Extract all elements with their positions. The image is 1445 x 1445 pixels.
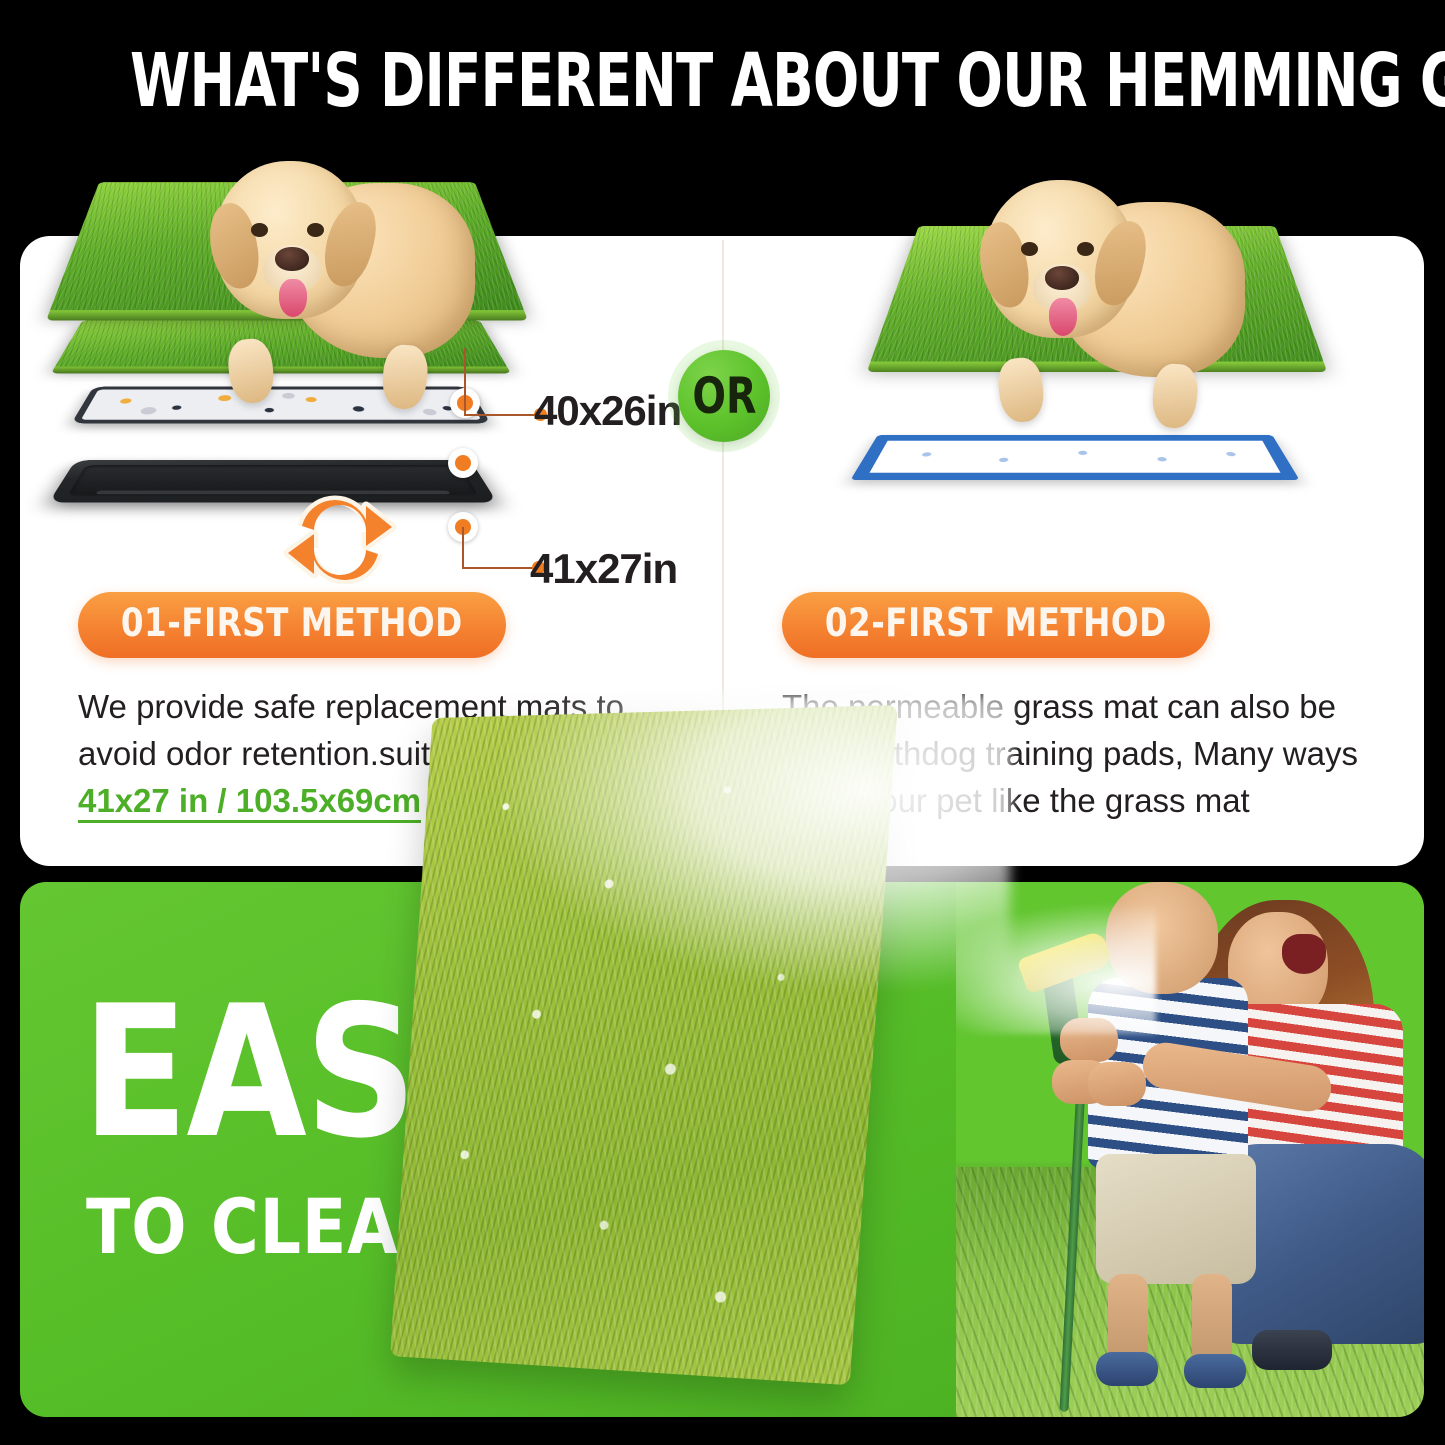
dog-ear-left [973, 218, 1036, 312]
method-01-description: We provide safe replacement mats to avoi… [78, 684, 653, 825]
dog-ear-left [203, 199, 266, 293]
dog-paw-left [226, 337, 276, 405]
easy-headline: EASY [82, 992, 526, 1152]
method-01-size-highlight: 41x27 in / 103.5x69cm [78, 782, 421, 823]
recycle-arrows-icon [280, 480, 400, 600]
golden-retriever-dog-left [205, 143, 475, 433]
dog-eye-left [251, 223, 268, 237]
method-01-badge: 01-FIRST METHOD [78, 592, 506, 658]
boy-shorts [1096, 1154, 1256, 1284]
dog-paw-left [996, 356, 1046, 424]
boy-open-mouth [1282, 934, 1326, 974]
or-label: OR [692, 367, 756, 425]
dog-paw-right [380, 343, 429, 411]
method-02-description: The permeable grass mat can also be used… [782, 684, 1382, 825]
water-spray-effect [956, 904, 1156, 1034]
dimension-label-41x27: 41x27in [530, 545, 677, 593]
or-badge: OR [678, 350, 770, 442]
dog-eye-right [307, 223, 324, 237]
easy-subhead: TO CLEAN [86, 1182, 454, 1271]
method-02-badge: 02-FIRST METHOD [782, 592, 1210, 658]
boy-sandal-right [1184, 1354, 1246, 1388]
panel-divider [722, 240, 724, 862]
callout-dot-pad [448, 448, 478, 478]
right-product-photo [845, 140, 1325, 540]
dog-head [985, 180, 1135, 338]
dog-eye-left [1021, 242, 1038, 256]
dog-paw-right [1150, 362, 1199, 430]
method-01-text-lead: We provide safe replacement mats to avoi… [78, 688, 624, 772]
boy-sandal-left [1096, 1352, 1158, 1386]
dog-tongue [279, 279, 307, 317]
method-02-badge-label: 02-FIRST METHOD [825, 601, 1167, 646]
dog-head [215, 161, 365, 319]
page-title: WHAT'S DIFFERENT ABOUT OUR HEMMING GRASS… [130, 38, 1315, 124]
hose-washing-photo [956, 882, 1424, 1417]
method-01-badge-label: 01-FIRST METHOD [121, 601, 463, 646]
method-block-01: 01-FIRST METHOD We provide safe replacem… [78, 592, 653, 825]
method-block-02: 02-FIRST METHOD The permeable grass mat … [782, 592, 1382, 825]
dog-nose [1045, 266, 1079, 290]
golden-retriever-dog-right [975, 162, 1245, 452]
easy-to-clean-panel: EASY TO CLEAN [20, 882, 1424, 1417]
dog-tongue [1049, 298, 1077, 336]
black-tray-layer [49, 460, 498, 502]
woman-sneaker [1252, 1330, 1332, 1370]
dog-eye-right [1077, 242, 1094, 256]
dog-nose [275, 247, 309, 271]
dimension-label-40x26: 40x26in [534, 387, 681, 435]
method-01-text-tail: Pet Potty [421, 782, 564, 819]
hand-child [1088, 1062, 1146, 1106]
